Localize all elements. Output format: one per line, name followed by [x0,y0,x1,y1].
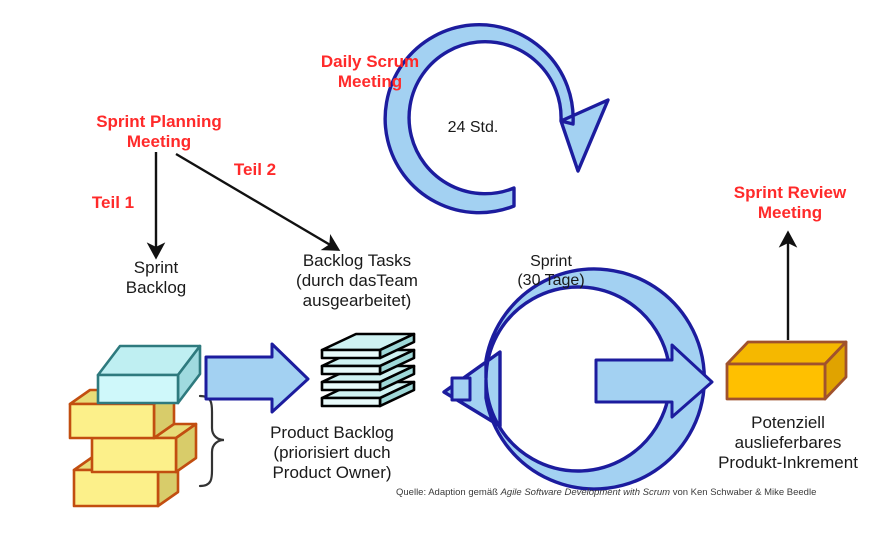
block-arrow-backlog-to-tasks [206,344,308,412]
label-teil-2: Teil 2 [220,160,290,180]
scrum-diagram-canvas: Sprint Planning Meeting Daily Scrum Meet… [0,0,885,543]
backlog-tasks-paper-stack [322,334,414,406]
label-teil-1: Teil 1 [78,193,148,213]
source-prefix: Quelle: Adaption gemäß [396,487,501,498]
label-sprint-cycle: Sprint (30 Tage) [486,253,616,291]
label-sprint-backlog: Sprint Backlog [96,258,216,298]
label-cycle-24-std: 24 Std. [418,119,528,138]
label-backlog-tasks: Backlog Tasks (durch dasTeam ausgearbeit… [262,251,452,311]
label-sprint-planning-meeting: Sprint Planning Meeting [64,112,254,152]
sprint-backlog-cube [98,346,200,403]
brace-product-backlog [200,396,224,486]
source-suffix: von Ken Schwaber & Mike Beedle [670,487,816,498]
label-sprint-review-meeting: Sprint Review Meeting [700,183,880,223]
source-citation: Quelle: Adaption gemäß Agile Software De… [396,487,816,498]
source-work-title: Agile Software Development with Scrum [501,487,671,498]
label-daily-scrum-meeting: Daily Scrum Meeting [285,52,455,92]
label-product-increment: Potenziell auslieferbares Produkt-Inkrem… [688,413,885,473]
sprint-backlog-cube-stack [70,346,200,506]
cycle-connector [452,378,470,400]
product-increment-cube [727,342,846,399]
label-product-backlog: Product Backlog (priorisiert duch Produc… [232,423,432,483]
